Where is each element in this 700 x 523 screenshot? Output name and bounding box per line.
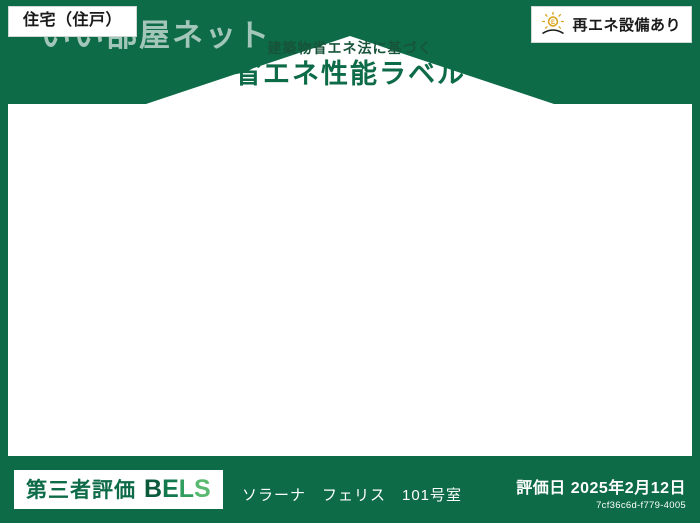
header-title: 省エネ性能ラベル [0,58,700,92]
bels-letter: S [194,475,211,503]
evaluation-date: 評価日 2025年2月12日 [516,474,686,498]
label-body-panel [8,104,692,456]
footer-bar: 第三者評価 BELS ソラーナ フェリス 101号室 評価日 2025年2月12… [0,462,700,523]
svg-text:E: E [551,20,555,26]
evaluation-id: 7cf36c6d-f779-4005 [516,500,686,511]
building-type-badge: 住宅（住戸） [8,6,137,37]
sun-icon: E [540,11,566,37]
bels-letter: E [162,475,179,503]
evaluation-info: 評価日 2025年2月12日 7cf36c6d-f779-4005 [516,474,686,511]
building-name: ソラーナ フェリス 101号室 [242,484,462,505]
bels-logo: 第三者評価 BELS [14,470,223,509]
bels-wordmark: BELS [144,477,211,502]
third-party-eval-label: 第三者評価 [26,474,136,504]
energy-performance-label: 住宅（住戸） E 再エネ設備あり 建築物省エネ法に基づく 省エネ性能ラベル エネ… [0,0,700,523]
evaluation-date-value: 2025年2月12日 [571,480,686,497]
renewable-energy-badge: E 再エネ設備あり [531,6,692,43]
evaluation-date-label: 評価日 [516,480,566,497]
header-title-group: 建築物省エネ法に基づく 省エネ性能ラベル [0,40,700,92]
renewable-energy-badge-label: 再エネ設備あり [572,14,681,35]
bels-letter: L [179,475,194,503]
bels-letter: B [144,475,162,503]
